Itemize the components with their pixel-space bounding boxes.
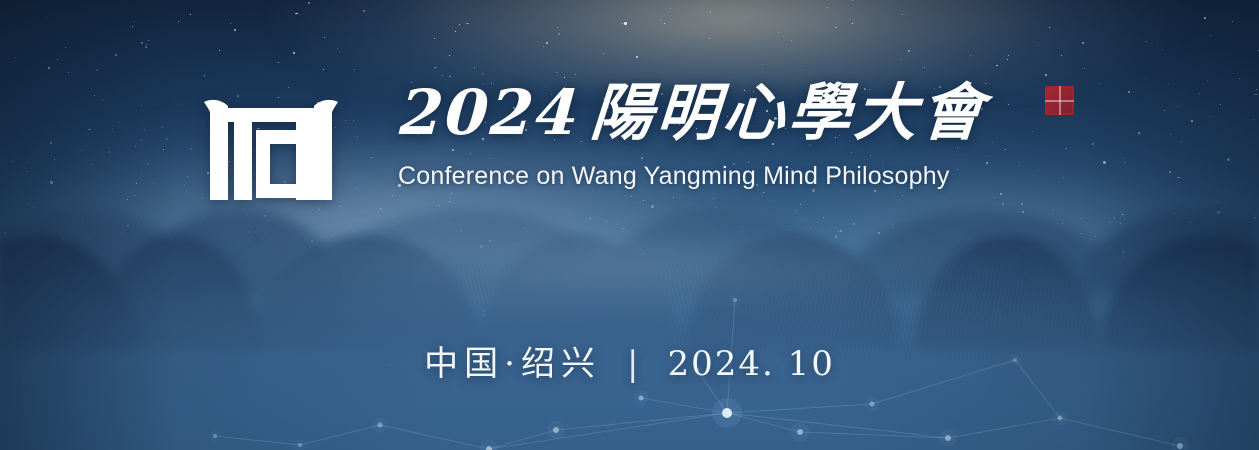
title-chinese: 陽明心學大會 (588, 76, 989, 149)
banner-content: 2024陽明心學大會 Conference on Wang Yangming M… (0, 0, 1259, 450)
event-meta: 中国·绍兴|2024. 10 (0, 336, 1259, 385)
red-seal-stamp (1045, 86, 1074, 115)
page-subtitle: Conference on Wang Yangming Mind Philoso… (398, 162, 1098, 191)
page-title: 2024陽明心學大會 (398, 82, 1102, 144)
meta-separator: | (627, 344, 641, 384)
title-block: 2024陽明心學大會 Conference on Wang Yangming M… (398, 82, 1098, 191)
title-year: 2024 (398, 76, 584, 149)
conference-banner: 2024陽明心學大會 Conference on Wang Yangming M… (0, 0, 1259, 450)
event-location: 中国·绍兴 (424, 344, 601, 384)
xin-character-gate-logo (196, 88, 346, 206)
event-date: 2024. 10 (667, 344, 834, 384)
